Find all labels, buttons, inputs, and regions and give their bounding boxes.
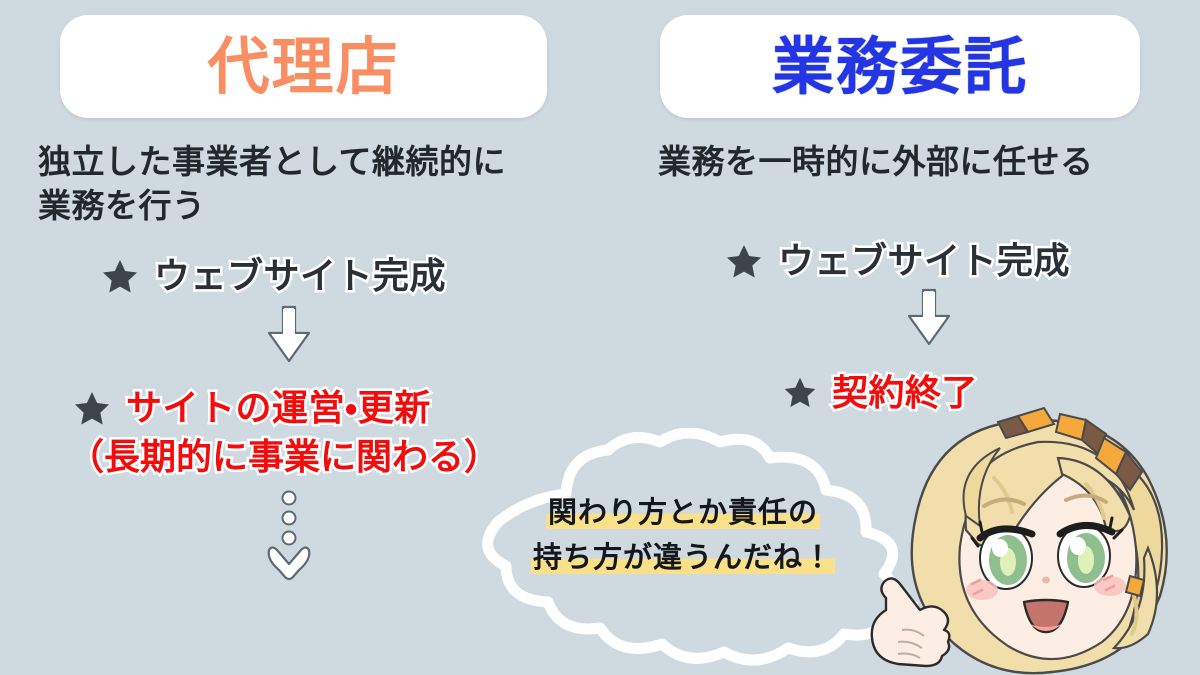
slide-canvas: 代理店 業務委託 独立した事業者として継続的に 業務を行う ウェブサイト完成 (0, 0, 1200, 675)
speech-line-2: 持ち方が違うんだね！ (531, 540, 835, 574)
column-right: 業務を一時的に外部に任せる ウェブサイト完成 契約終了 (600, 140, 1200, 413)
arrow-right-1 (658, 286, 1200, 348)
lead-text-right: 業務を一時的に外部に任せる (658, 140, 1200, 184)
step-label-left-2: サイトの運営・更新 (126, 389, 431, 429)
step-label-left-1: ウェブサイト完成 (154, 257, 446, 297)
header-title-left: 代理店 (207, 36, 399, 98)
star-icon (100, 257, 140, 297)
header-card-right: 業務委託 (660, 15, 1140, 118)
header-title-right: 業務委託 (772, 36, 1028, 98)
step-label-right-1: ウェブサイト完成 (778, 242, 1070, 282)
down-arrow-icon (903, 286, 955, 348)
step-row-left-1: ウェブサイト完成 (100, 257, 600, 297)
step-row-left-2: サイトの運営・更新 (72, 389, 600, 429)
speech-line-1: 関わり方とか責任の (546, 495, 820, 529)
star-icon (72, 389, 112, 429)
blonde-anime-girl-pointing-icon (848, 398, 1200, 675)
header-card-left: 代理店 (60, 15, 547, 118)
dotted-down-chevron-icon (261, 488, 317, 584)
character-illustration (848, 398, 1200, 675)
star-icon (782, 375, 818, 411)
arrow-left-1 (0, 303, 600, 365)
star-icon (724, 242, 764, 282)
step-row-right-1: ウェブサイト完成 (724, 242, 1200, 282)
lead-text-left: 独立した事業者として継続的に 業務を行う (38, 140, 600, 227)
down-arrow-icon (263, 303, 315, 365)
